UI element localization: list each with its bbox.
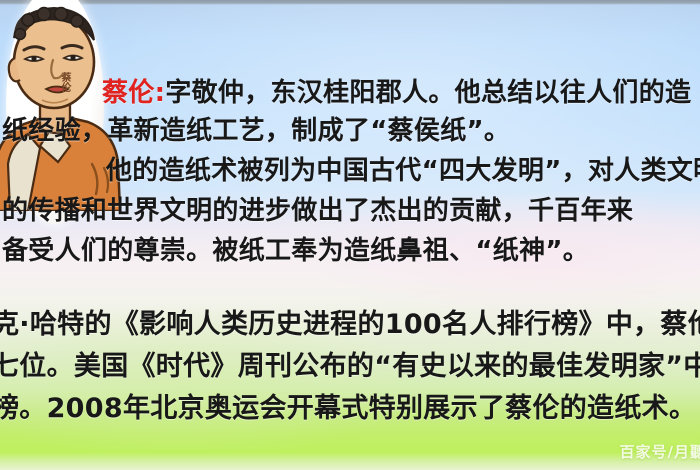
paragraph-two-line-1: 克·哈特的《影响人类历史进程的100名人排行榜》中，蔡伦排 — [0, 302, 700, 341]
name-colon: : — [155, 78, 166, 108]
paragraph-two-line-2: 七位。美国《时代》周刊公布的“有史以来的最佳发明家”中榜上有 — [0, 344, 700, 383]
paragraph-one-line-1: 蔡伦:字敬仲，东汉桂阳郡人。他总结以往人们的造 — [102, 72, 691, 109]
paragraph-one-line-3: 他的造纸术被列为中国古代“四大发明”，对人类文明 — [106, 150, 700, 187]
watermark-label: 百家号/月聽 — [620, 441, 700, 462]
paragraph-one-line-1-rest: 字敬仲，东汉桂阳郡人。他总结以往人们的造 — [165, 78, 691, 108]
paragraph-one-line-2: 纸经验，革新造纸工艺，制成了“蔡侯纸”。 — [2, 110, 510, 147]
paragraph-two-line-3: 榜。2008年北京奥运会开幕式特别展示了蔡伦的造纸术。 — [0, 386, 696, 425]
paragraph-one-line-4: 的传播和世界文明的进步做出了杰出的贡献，千百年来 — [2, 190, 633, 227]
paragraph-one-line-5: 备受人们的尊崇。被纸工奉为造纸鼻祖、“纸神”。 — [2, 230, 589, 267]
cai-lun-name-highlight: 蔡伦 — [102, 78, 155, 108]
slide-canvas: 蔡伦 蔡伦:字敬仲，东汉桂阳郡人。他总结以往人们的造 纸经验，革新造纸工艺，制成… — [0, 0, 700, 470]
portrait-name-label: 蔡伦 — [54, 72, 70, 92]
